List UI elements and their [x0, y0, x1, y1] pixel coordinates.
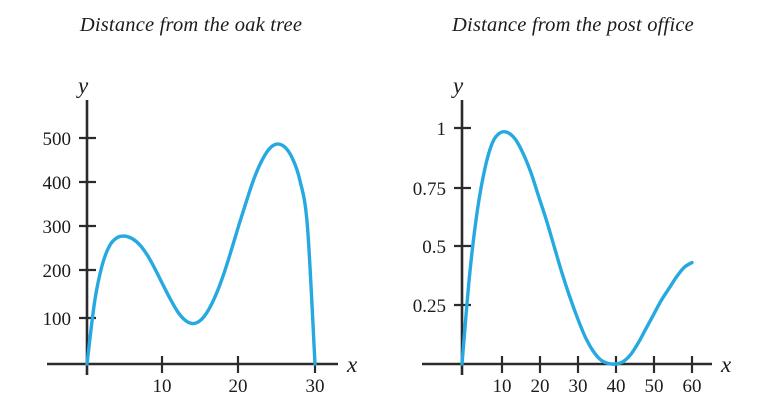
- y-tick-label-200-oak-tree: 200: [43, 261, 72, 282]
- y-tick-label-300-oak-tree: 300: [43, 217, 72, 238]
- x-tick-label-20-oak-tree: 20: [229, 376, 248, 397]
- y-tick-label-1-post-office: 1: [437, 119, 447, 140]
- chart-panel-oak-tree: Distance from the oak tree 500 400 300 2…: [0, 0, 382, 409]
- x-tick-label-10-post-office: 10: [493, 376, 512, 397]
- chart-panel-post-office: Distance from the post office 1 0.75 0.5…: [382, 0, 764, 409]
- plot-post-office: 1 0.75 0.5 0.25 10 20 30 40 50 60 y x: [382, 0, 764, 409]
- y-tick-label-075-post-office: 0.75: [413, 179, 446, 200]
- x-axis-label-post-office: x: [720, 352, 732, 377]
- x-tick-label-40-post-office: 40: [607, 376, 626, 397]
- x-tick-label-50-post-office: 50: [645, 376, 664, 397]
- x-tick-label-60-post-office: 60: [683, 376, 702, 397]
- y-tick-label-400-oak-tree: 400: [43, 173, 72, 194]
- y-tick-label-025-post-office: 0.25: [413, 296, 446, 317]
- x-axis-label-oak-tree: x: [346, 352, 358, 377]
- data-curve-post-office: [462, 132, 692, 364]
- y-tick-label-05-post-office: 0.5: [422, 237, 446, 258]
- x-tick-label-30-oak-tree: 30: [306, 376, 325, 397]
- x-tick-label-20-post-office: 20: [531, 376, 550, 397]
- plot-oak-tree: 500 400 300 200 100 10 20 30 y x: [0, 0, 382, 409]
- y-axis-label-oak-tree: y: [76, 73, 89, 98]
- figure-pair: Distance from the oak tree 500 400 300 2…: [0, 0, 764, 409]
- x-tick-label-30-post-office: 30: [569, 376, 588, 397]
- x-tick-label-10-oak-tree: 10: [153, 376, 172, 397]
- y-tick-label-500-oak-tree: 500: [43, 129, 72, 150]
- y-axis-label-post-office: y: [451, 73, 464, 98]
- y-tick-label-100-oak-tree: 100: [43, 309, 72, 330]
- data-curve-oak-tree: [87, 144, 315, 364]
